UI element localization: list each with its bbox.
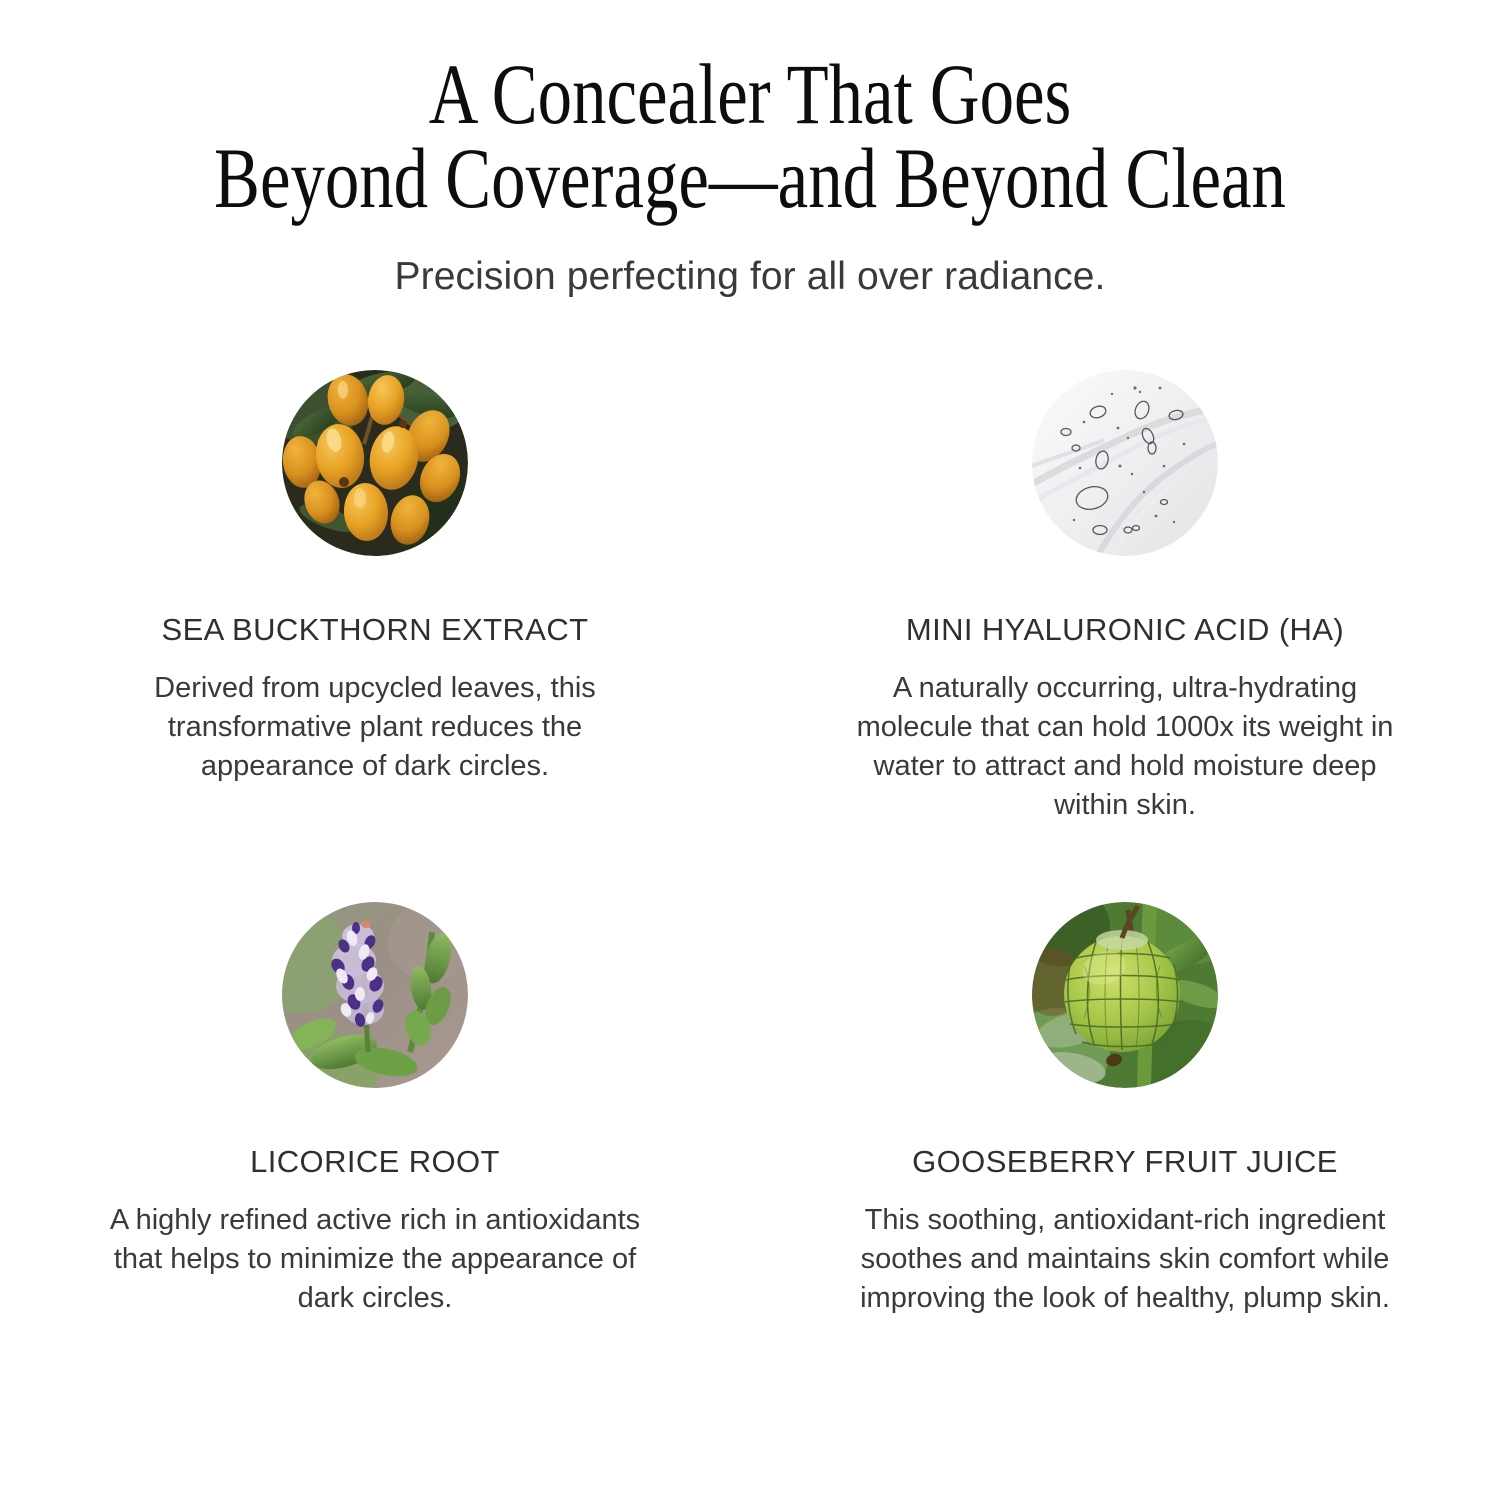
headline-line-2: Beyond Coverage—and Beyond Clean	[150, 136, 1350, 220]
ingredient-title: LICORICE ROOT	[250, 1145, 500, 1179]
ingredient-title: MINI HYALURONIC ACID (HA)	[906, 613, 1344, 647]
ingredient-benefits-page: A Concealer That Goes Beyond Coverage—an…	[0, 0, 1500, 1500]
ingredient-description: A naturally occurring, ultra-hydrating m…	[845, 669, 1405, 825]
ingredient-card-gooseberry: GOOSEBERRY FRUIT JUICE This soothing, an…	[750, 902, 1500, 1318]
ingredient-title: SEA BUCKTHORN EXTRACT	[162, 613, 589, 647]
ingredient-description: This soothing, antioxidant-rich ingredie…	[845, 1201, 1405, 1318]
page-subtitle: Precision perfecting for all over radian…	[0, 254, 1500, 300]
licorice-root-flower-photo	[282, 902, 468, 1088]
page-headline: A Concealer That Goes Beyond Coverage—an…	[150, 52, 1350, 220]
gooseberry-fruit-husk-photo	[1032, 902, 1218, 1088]
ingredient-description: A highly refined active rich in antioxid…	[95, 1201, 655, 1318]
headline-line-1: A Concealer That Goes	[150, 52, 1350, 136]
ingredient-card-licorice-root: LICORICE ROOT A highly refined active ri…	[0, 902, 750, 1318]
header: A Concealer That Goes Beyond Coverage—an…	[0, 0, 1500, 300]
ingredient-description: Derived from upcycled leaves, this trans…	[95, 669, 655, 786]
ingredient-title: GOOSEBERRY FRUIT JUICE	[912, 1145, 1338, 1179]
ingredient-grid: SEA BUCKTHORN EXTRACT Derived from upcyc…	[0, 370, 1500, 1318]
sea-buckthorn-berries-photo	[282, 370, 468, 556]
ingredient-card-sea-buckthorn: SEA BUCKTHORN EXTRACT Derived from upcyc…	[0, 370, 750, 902]
hyaluronic-acid-gel-texture-photo	[1032, 370, 1218, 556]
ingredient-card-hyaluronic-acid: MINI HYALURONIC ACID (HA) A naturally oc…	[750, 370, 1500, 902]
